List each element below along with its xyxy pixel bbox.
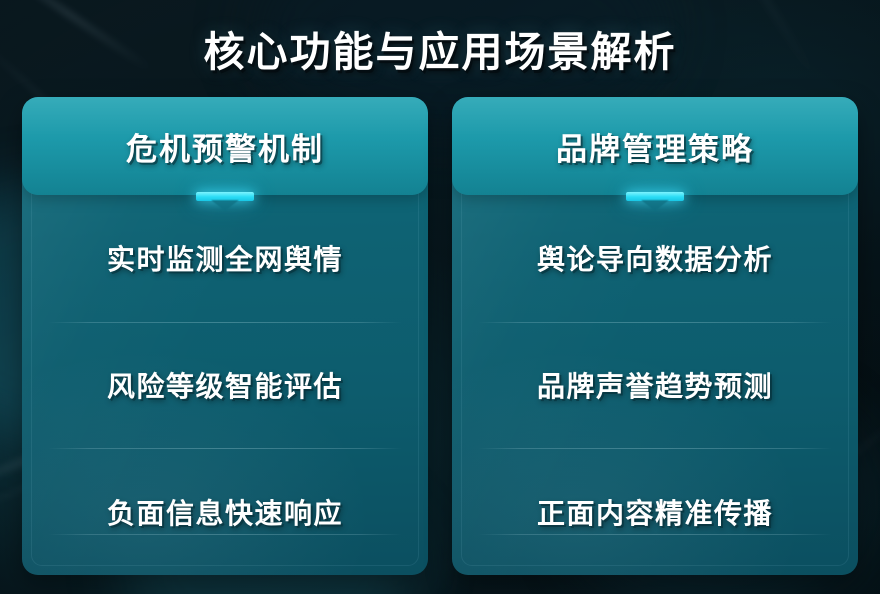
- list-item-label: 舆论导向数据分析: [537, 238, 773, 278]
- list-item[interactable]: 负面信息快速响应: [22, 448, 428, 575]
- list-item[interactable]: 正面内容精准传播: [452, 448, 858, 575]
- card-header-title: 危机预警机制: [126, 124, 324, 169]
- list-item[interactable]: 实时监测全网舆情: [22, 195, 428, 322]
- list-item[interactable]: 品牌声誉趋势预测: [452, 322, 858, 449]
- card-feature-list: 实时监测全网舆情 风险等级智能评估 负面信息快速响应: [22, 195, 428, 575]
- card-header-title: 品牌管理策略: [556, 124, 754, 169]
- list-item-label: 负面信息快速响应: [107, 492, 343, 532]
- card-header: 品牌管理策略: [452, 97, 858, 195]
- list-item-label: 风险等级智能评估: [107, 365, 343, 405]
- card-header: 危机预警机制: [22, 97, 428, 195]
- slide-canvas: 核心功能与应用场景解析 危机预警机制 实时监测全网舆情 风险等级智能评估: [0, 0, 880, 594]
- feature-card-crisis-warning[interactable]: 危机预警机制 实时监测全网舆情 风险等级智能评估 负面信息快速响应: [22, 97, 428, 575]
- list-item-label: 品牌声誉趋势预测: [537, 365, 773, 405]
- list-item-label: 正面内容精准传播: [537, 492, 773, 532]
- list-item[interactable]: 风险等级智能评估: [22, 322, 428, 449]
- list-item[interactable]: 舆论导向数据分析: [452, 195, 858, 322]
- page-title: 核心功能与应用场景解析: [0, 18, 880, 78]
- list-item-label: 实时监测全网舆情: [107, 238, 343, 278]
- feature-card-brand-management[interactable]: 品牌管理策略 舆论导向数据分析 品牌声誉趋势预测 正面内容精准传播: [452, 97, 858, 575]
- card-feature-list: 舆论导向数据分析 品牌声誉趋势预测 正面内容精准传播: [452, 195, 858, 575]
- card-grid: 危机预警机制 实时监测全网舆情 风险等级智能评估 负面信息快速响应: [22, 97, 858, 575]
